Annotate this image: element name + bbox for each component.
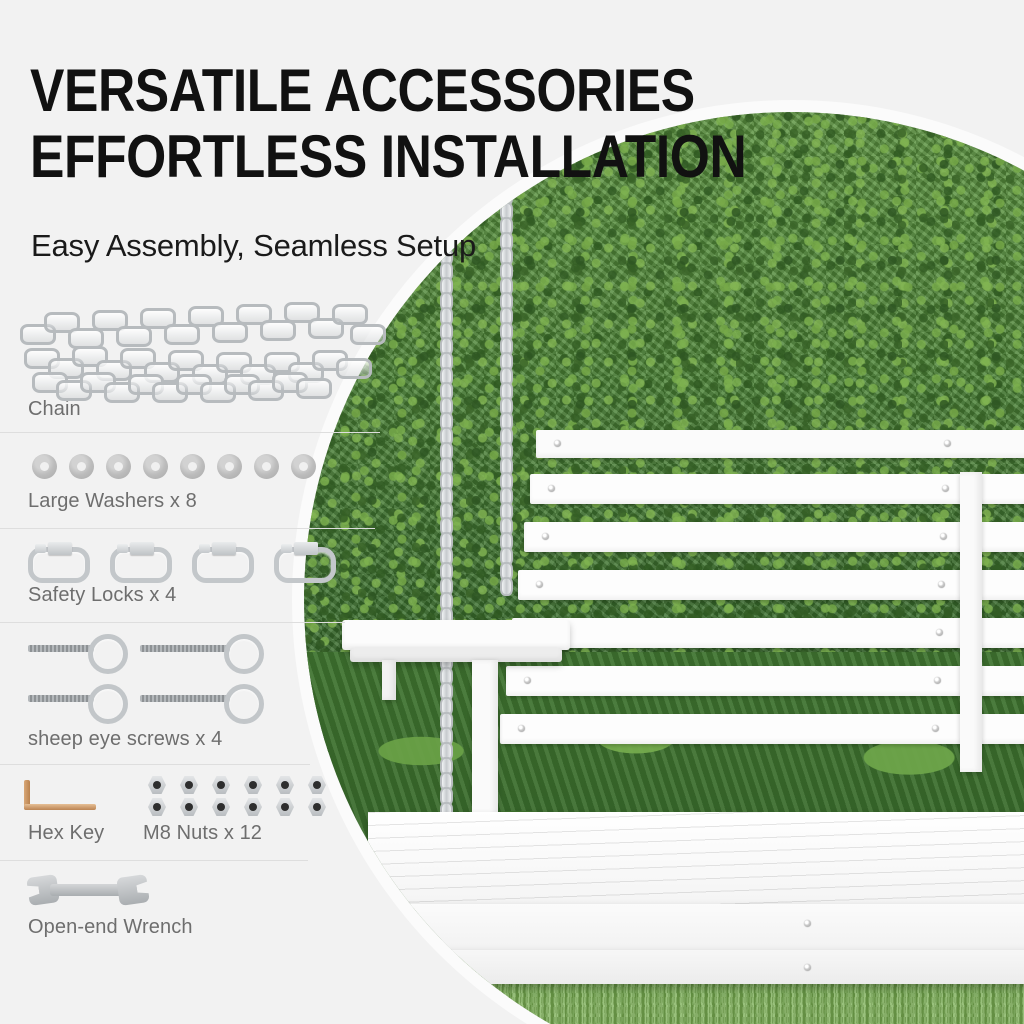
- screw: [548, 485, 555, 492]
- backrest-slat: [524, 522, 1024, 552]
- seat-slats: [368, 812, 1024, 908]
- screw: [536, 581, 543, 588]
- backrest-slat: [512, 618, 1024, 648]
- hex-key-icon: [24, 780, 104, 812]
- headline-line-1: VERSATILE ACCESSORIES: [30, 57, 695, 124]
- page-subtitle: Easy Assembly, Seamless Setup: [31, 228, 476, 264]
- screw: [382, 964, 389, 971]
- screw: [932, 725, 939, 732]
- washer-icon: [0, 440, 400, 490]
- accessory-label: Hex Key: [28, 822, 104, 845]
- seat-front-apron: [362, 904, 1024, 956]
- screw: [934, 677, 941, 684]
- backrest-stile: [960, 472, 982, 772]
- accessory-label: Safety Locks x 4: [28, 584, 400, 607]
- accessory-item-safety-locks: Safety Locks x 4: [0, 534, 400, 628]
- screw: [542, 533, 549, 540]
- list-divider: [0, 764, 310, 765]
- list-divider: [0, 860, 308, 861]
- backrest-slat: [506, 666, 1024, 696]
- screw: [940, 533, 947, 540]
- accessory-item-wrench: Open-end Wrench: [0, 866, 400, 956]
- list-divider: [0, 622, 345, 623]
- accessory-label: Open-end Wrench: [28, 916, 400, 939]
- seat-lower-rail: [362, 950, 1024, 984]
- accessory-item-hex-key-and-nuts: Hex Key M8 Nuts x 12: [0, 770, 400, 866]
- screw: [938, 581, 945, 588]
- accessory-label: sheep eye screws x 4: [28, 728, 400, 751]
- eye-screw-icon: [0, 628, 400, 728]
- screw: [804, 964, 811, 971]
- accessory-item-large-washers: Large Washers x 8: [0, 440, 400, 534]
- quick-link-icon: [0, 534, 400, 584]
- chain-icon: [0, 280, 400, 398]
- screw: [944, 440, 951, 447]
- accessory-list: Chain Large Washers x 8: [0, 280, 400, 956]
- screw: [554, 440, 561, 447]
- screw: [524, 677, 531, 684]
- list-divider: [0, 432, 380, 433]
- accessory-label: M8 Nuts x 12: [143, 822, 262, 845]
- accessory-item-eye-screws: sheep eye screws x 4: [0, 628, 400, 770]
- screw: [804, 920, 811, 927]
- accessory-item-chain: Chain: [0, 280, 400, 440]
- screw: [518, 725, 525, 732]
- wrench-icon: [0, 866, 400, 916]
- infographic-canvas: VERSATILE ACCESSORIES EFFORTLESS INSTALL…: [0, 0, 1024, 1024]
- screw: [936, 629, 943, 636]
- backrest-slat: [500, 714, 1024, 744]
- accessory-label: Large Washers x 8: [28, 490, 400, 513]
- backrest-slat: [518, 570, 1024, 600]
- backrest-slat: [530, 474, 1024, 504]
- list-divider: [0, 528, 375, 529]
- screw: [942, 485, 949, 492]
- headline-line-2: EFFORTLESS INSTALLATION: [30, 124, 649, 190]
- page-title: VERSATILE ACCESSORIES EFFORTLESS INSTALL…: [30, 58, 649, 190]
